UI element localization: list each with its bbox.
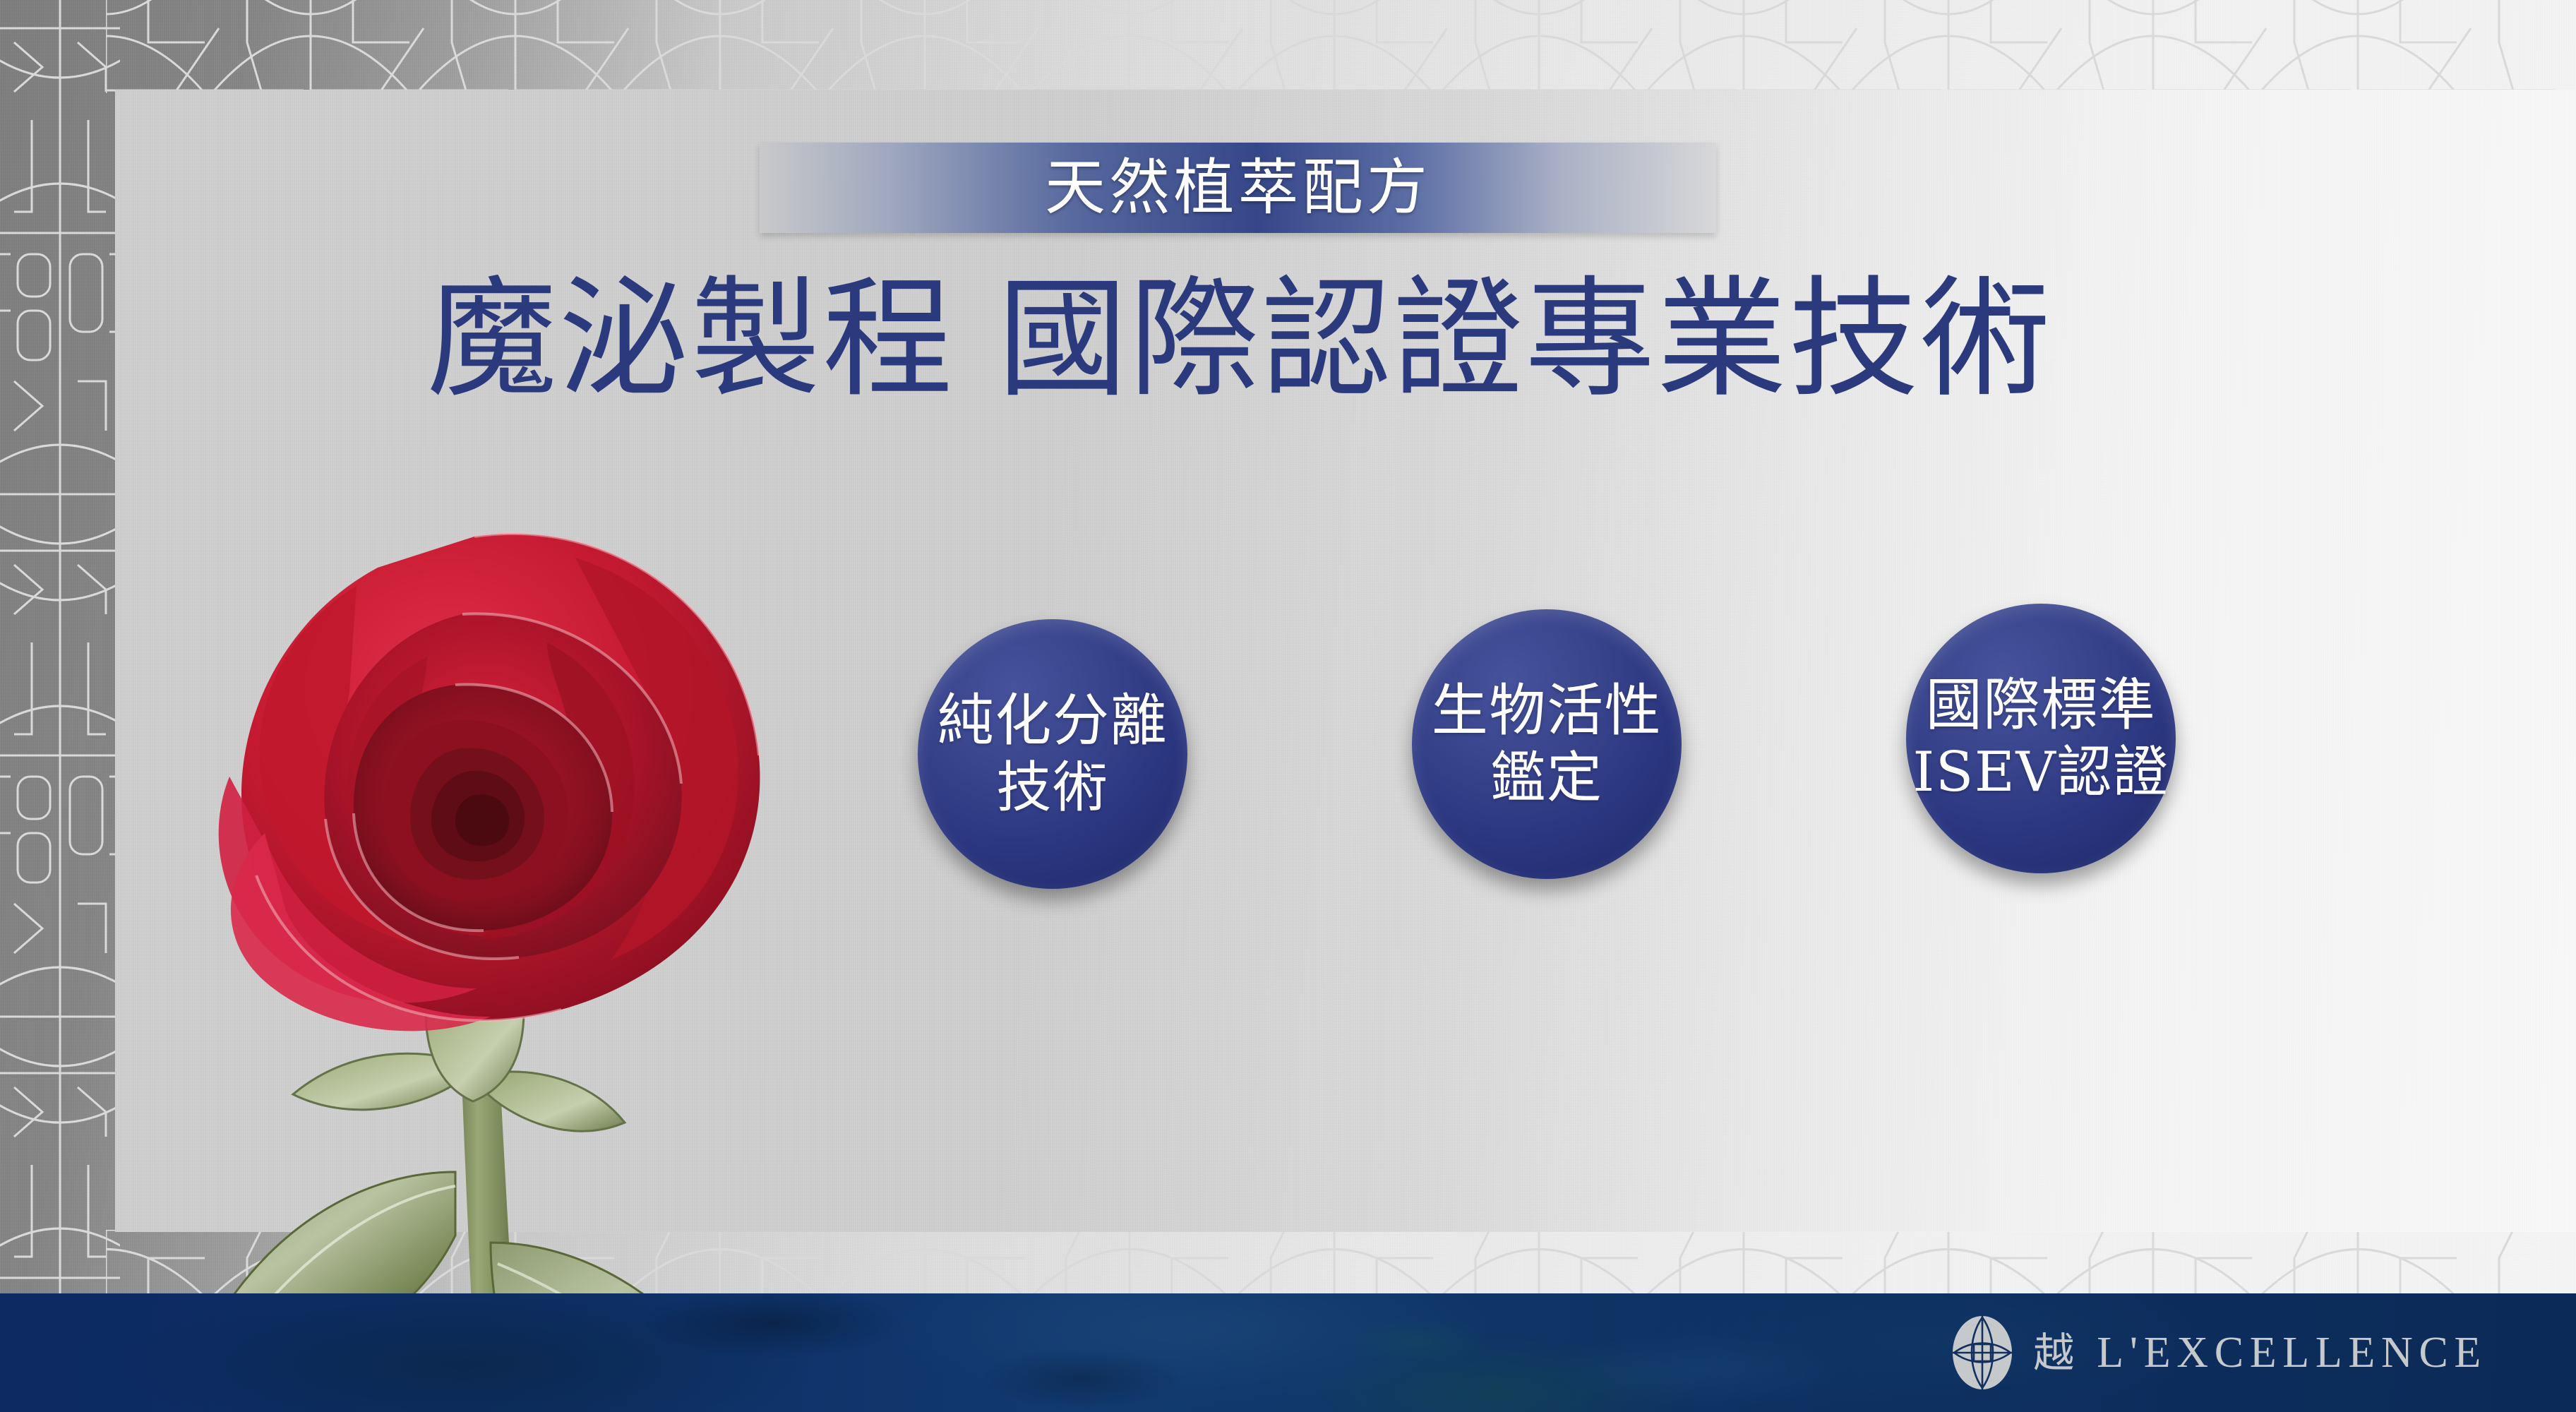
brand-cjk-mark: 越: [2033, 1332, 2074, 1373]
brand-wordmark: L'EXCELLENCE: [2097, 1331, 2487, 1375]
rose-image: [124, 452, 829, 1412]
feature-circle-2[interactable]: 生物活性 鑑定: [1412, 609, 1682, 879]
feature-circle-1-line2: 技術: [996, 755, 1108, 822]
feature-circle-2-line2: 鑑定: [1490, 745, 1602, 812]
feature-circle-1[interactable]: 純化分離 技術: [918, 619, 1187, 889]
feature-circle-3-line1: 國際標準: [1926, 671, 2156, 740]
subtitle-ribbon: 天然植萃配方: [760, 143, 1716, 233]
brand-logo[interactable]: 越 L'EXCELLENCE: [1950, 1313, 2487, 1392]
page-title: 魔泌製程 國際認證專業技術: [115, 267, 2364, 412]
subtitle-text: 天然植萃配方: [1045, 157, 1431, 218]
brand-emblem-icon: [1950, 1313, 2015, 1392]
feature-circle-3[interactable]: 國際標準 ISEV認證: [1906, 604, 2176, 873]
footer-band: 越 L'EXCELLENCE: [0, 1293, 2576, 1412]
feature-circle-1-line1: 純化分離: [937, 686, 1168, 755]
feature-circle-group: 純化分離 技術 生物活性 鑑定 國際標準 ISEV認證: [918, 604, 2372, 1013]
feature-circle-3-line2: ISEV認證: [1912, 739, 2169, 806]
feature-circle-2-line1: 生物活性: [1432, 676, 1662, 746]
slide-canvas: 天然植萃配方 魔泌製程 國際認證專業技術 純化分離 技術 生物活性 鑑定 國際標…: [0, 0, 2576, 1412]
